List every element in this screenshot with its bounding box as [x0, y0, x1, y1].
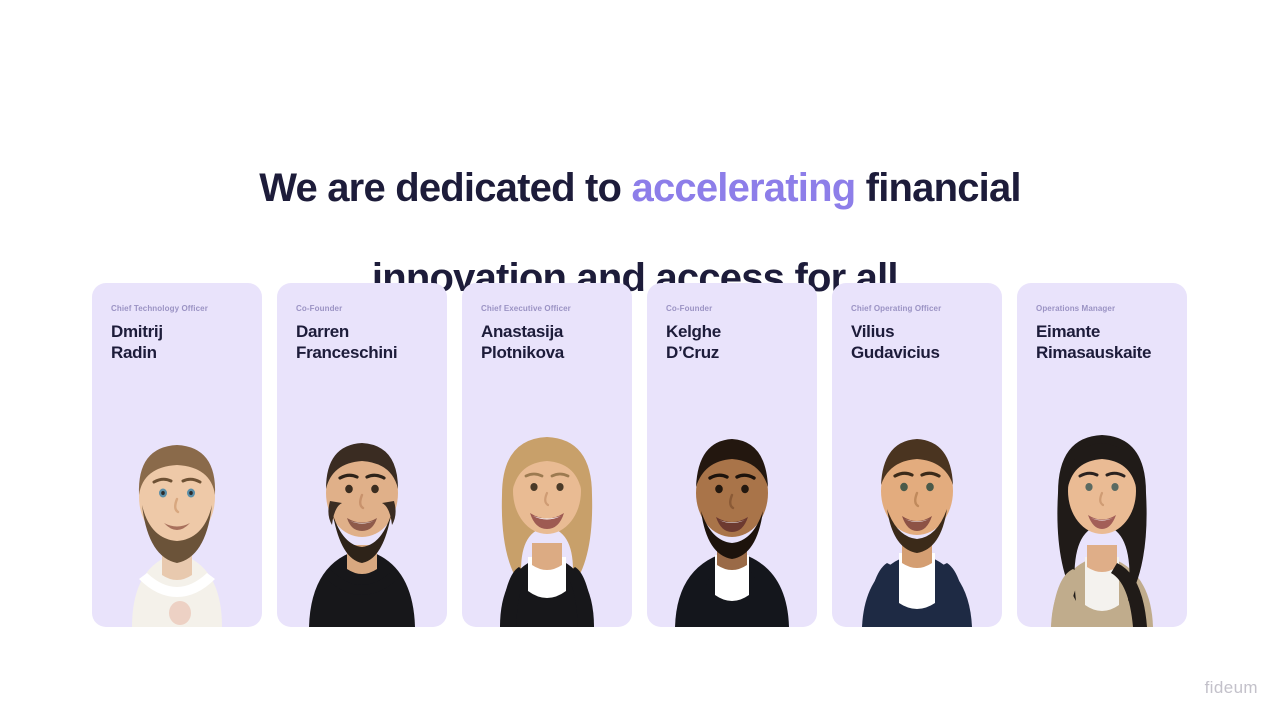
member-name: Kelghe D’Cruz [666, 321, 807, 363]
member-portrait-photo [1017, 377, 1187, 627]
member-info: Chief Technology Officer Dmitrij Radin [111, 304, 252, 363]
headline-accent-word: accelerating [632, 166, 856, 210]
fideum-logo: fideum [1205, 678, 1258, 698]
member-portrait-photo [647, 377, 817, 627]
team-member-grid: Chief Technology Officer Dmitrij Radin [92, 283, 1188, 627]
team-member-card[interactable]: Chief Technology Officer Dmitrij Radin [92, 283, 262, 627]
member-portrait-photo [92, 377, 262, 627]
member-info: Operations Manager Eimante Rimasauskaite [1036, 304, 1177, 363]
member-role: Chief Operating Officer [851, 304, 992, 314]
member-info: Chief Operating Officer Vilius Gudaviciu… [851, 304, 992, 363]
member-role: Co-Founder [666, 304, 807, 314]
member-name: Eimante Rimasauskaite [1036, 321, 1177, 363]
member-role: Co-Founder [296, 304, 437, 314]
member-role: Operations Manager [1036, 304, 1177, 314]
team-member-card[interactable]: Operations Manager Eimante Rimasauskaite [1017, 283, 1187, 627]
member-name: Vilius Gudavicius [851, 321, 992, 363]
headline-text-before: We are dedicated to [259, 166, 631, 210]
headline-text-after: financial [855, 166, 1020, 210]
member-info: Co-Founder Darren Franceschini [296, 304, 437, 363]
team-member-card[interactable]: Co-Founder Darren Franceschini [277, 283, 447, 627]
team-member-card[interactable]: Co-Founder Kelghe D’Cruz [647, 283, 817, 627]
member-info: Co-Founder Kelghe D’Cruz [666, 304, 807, 363]
member-name: Anastasija Plotnikova [481, 321, 622, 363]
member-role: Chief Technology Officer [111, 304, 252, 314]
member-portrait-photo [832, 377, 1002, 627]
member-portrait-photo [277, 377, 447, 627]
team-member-card[interactable]: Chief Executive Officer Anastasija Plotn… [462, 283, 632, 627]
member-role: Chief Executive Officer [481, 304, 622, 314]
page-headline: We are dedicated to accelerating financi… [0, 121, 1280, 301]
member-name: Darren Franceschini [296, 321, 437, 363]
member-info: Chief Executive Officer Anastasija Plotn… [481, 304, 622, 363]
member-name: Dmitrij Radin [111, 321, 252, 363]
member-portrait-photo [462, 377, 632, 627]
team-member-card[interactable]: Chief Operating Officer Vilius Gudaviciu… [832, 283, 1002, 627]
